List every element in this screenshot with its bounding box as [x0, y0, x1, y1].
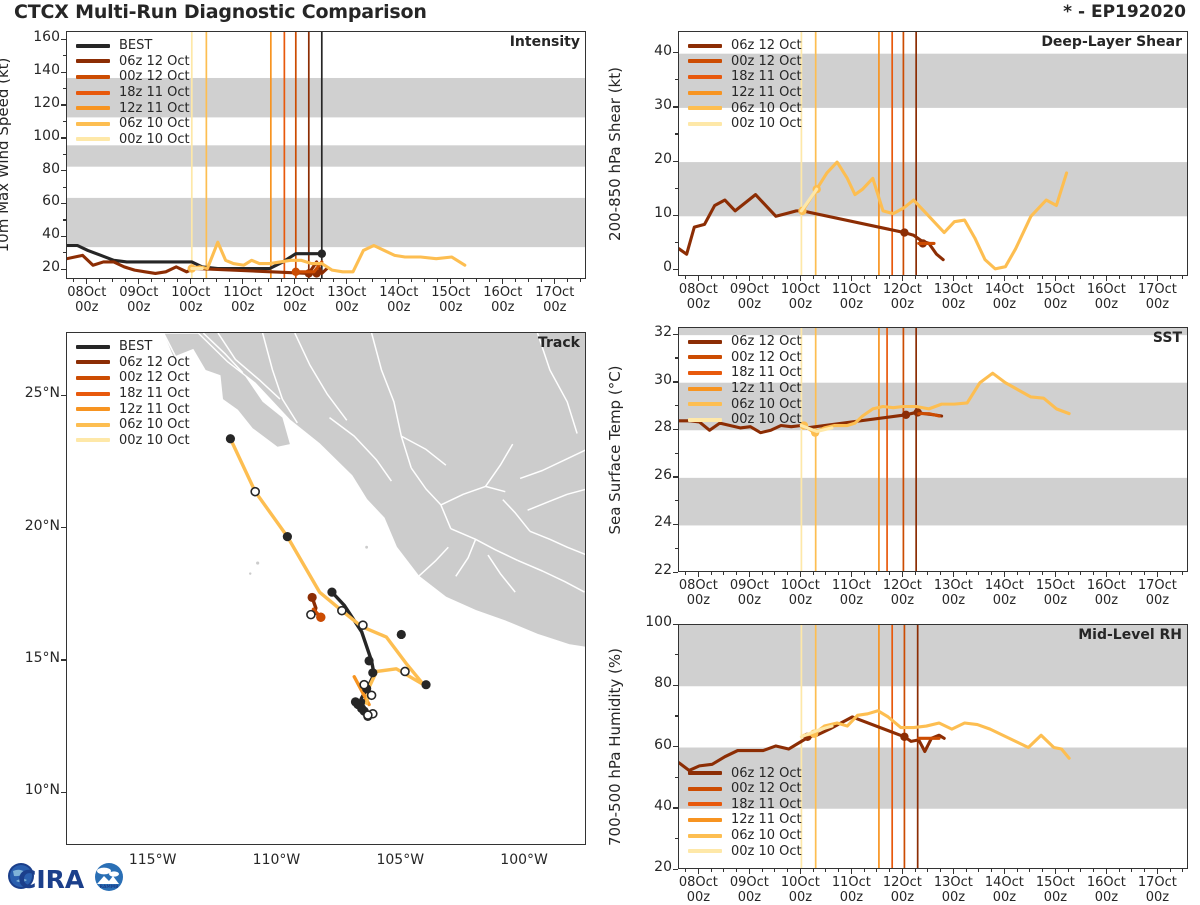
x-minor-tick — [876, 276, 877, 279]
x-minor-tick — [813, 572, 814, 575]
x-minor-tick — [838, 572, 839, 575]
legend-swatch-icon — [76, 122, 110, 126]
x-minor-tick — [711, 869, 712, 872]
x-minor-tick — [502, 279, 503, 282]
legend-label: 06z 12 Oct — [731, 38, 802, 53]
x-minor-tick — [978, 276, 979, 279]
legend-intensity: BEST06z 12 Oct00z 12 Oct18z 11 Oct12z 11… — [76, 38, 190, 147]
x-minor-tick — [723, 276, 724, 279]
y-minor-tick — [675, 453, 678, 454]
x-minor-tick — [1093, 276, 1094, 279]
y-tick-label: 120 — [18, 95, 60, 111]
legend-label: 00z 12 Oct — [119, 69, 190, 84]
legend-label: 00z 10 Oct — [731, 116, 802, 131]
x-minor-tick — [685, 276, 686, 279]
legend-item[interactable]: 06z 12 Oct — [76, 54, 190, 70]
x-minor-tick — [864, 276, 865, 279]
y-tick-label: 80 — [630, 675, 672, 691]
x-minor-tick — [385, 279, 386, 282]
y-minor-tick — [675, 715, 678, 716]
y-tick-label: 24 — [630, 514, 672, 530]
x-minor-tick — [876, 869, 877, 872]
y-tick-mark — [673, 685, 678, 686]
legend-item[interactable]: 18z 11 Oct — [688, 69, 802, 85]
legend-label: 00z 12 Oct — [731, 350, 802, 365]
x-minor-tick — [787, 869, 788, 872]
x-minor-tick — [1068, 572, 1069, 575]
x-minor-tick — [749, 572, 750, 575]
x-minor-tick — [838, 869, 839, 872]
x-minor-tick — [1029, 276, 1030, 279]
x-minor-tick — [953, 572, 954, 575]
rammb-icon: RAMMB — [95, 863, 123, 891]
y-tick-label: 40 — [18, 226, 60, 242]
x-minor-tick — [1042, 276, 1043, 279]
x-minor-tick — [1157, 276, 1158, 279]
legend-swatch-icon — [688, 418, 722, 422]
y-axis-label-sst: Sea Surface Temp (°C) — [606, 365, 624, 534]
x-minor-tick — [813, 276, 814, 279]
x-minor-tick — [437, 279, 438, 282]
x-minor-tick — [915, 276, 916, 279]
x-minor-tick — [1055, 276, 1056, 279]
legend-label: 06z 12 Oct — [119, 355, 190, 370]
lat-tick-mark — [61, 792, 66, 793]
legend-item[interactable]: 00z 12 Oct — [76, 69, 190, 85]
x-minor-tick — [940, 869, 941, 872]
y-tick-label: 22 — [630, 562, 672, 578]
legend-label: 00z 12 Oct — [731, 781, 802, 796]
y-minor-tick — [675, 500, 678, 501]
x-minor-tick — [927, 572, 928, 575]
legend-swatch-icon — [688, 771, 722, 775]
x-minor-tick — [294, 279, 295, 282]
legend-item[interactable]: 06z 10 Oct — [76, 116, 190, 132]
x-minor-tick — [320, 279, 321, 282]
x-minor-tick — [112, 279, 113, 282]
x-minor-tick — [902, 276, 903, 279]
x-minor-tick — [216, 279, 217, 282]
x-minor-tick — [927, 869, 928, 872]
shaded-band — [679, 162, 1188, 216]
x-minor-tick — [736, 276, 737, 279]
x-minor-tick — [372, 279, 373, 282]
legend-label: 12z 11 Oct — [119, 402, 190, 417]
track-point-filled — [316, 613, 325, 622]
x-minor-tick — [177, 279, 178, 282]
x-minor-tick — [966, 869, 967, 872]
x-minor-tick — [203, 279, 204, 282]
track-point-open — [307, 611, 315, 619]
legend-label: 12z 11 Oct — [731, 85, 802, 100]
cira-rammb-logo: CIRA RAMMB — [6, 855, 130, 897]
legend-item[interactable]: 06z 12 Oct — [688, 38, 802, 54]
y-tick-mark — [673, 334, 678, 335]
legend-item[interactable]: 00z 10 Oct — [688, 843, 802, 859]
y-tick-mark — [61, 203, 66, 204]
legend-label: 12z 11 Oct — [119, 101, 190, 116]
lat-tick-mark — [61, 395, 66, 396]
x-minor-tick — [825, 572, 826, 575]
y-minor-tick — [675, 405, 678, 406]
x-minor-tick — [528, 279, 529, 282]
legend-item[interactable]: 18z 11 Oct — [76, 85, 190, 101]
shaded-band — [679, 478, 1188, 526]
x-minor-tick — [787, 572, 788, 575]
y-tick-label: 60 — [18, 193, 60, 209]
legend-label: BEST — [119, 339, 152, 354]
legend-swatch-icon — [76, 376, 110, 380]
legend-label: 18z 11 Oct — [731, 69, 802, 84]
x-minor-tick — [1131, 572, 1132, 575]
legend-swatch-icon — [688, 59, 722, 63]
x-minor-tick — [268, 279, 269, 282]
x-minor-tick — [1068, 869, 1069, 872]
y-axis-label-shear: 200-850 hPa Shear (kt) — [606, 67, 624, 241]
legend-item[interactable]: 12z 11 Oct — [76, 100, 190, 116]
legend-item[interactable]: 06z 12 Oct — [76, 355, 190, 371]
legend-item[interactable]: BEST — [76, 339, 190, 355]
legend-label: 06z 12 Oct — [119, 54, 190, 69]
legend-item[interactable]: 00z 12 Oct — [688, 54, 802, 70]
page-header: CTCX Multi-Run Diagnostic Comparison * -… — [0, 0, 1200, 26]
x-minor-tick — [1017, 869, 1018, 872]
legend-item[interactable]: 18z 11 Oct — [688, 797, 802, 813]
y-tick-label: 28 — [630, 419, 672, 435]
y-tick-mark — [673, 572, 678, 573]
lat-tick-label: 20°N — [4, 518, 60, 534]
legend-swatch-icon — [76, 59, 110, 63]
x-minor-tick — [73, 279, 74, 282]
x-minor-tick — [698, 276, 699, 279]
lon-tick-label: 110°W — [236, 853, 316, 869]
x-minor-tick — [1182, 276, 1183, 279]
legend-label: 06z 10 Oct — [731, 101, 802, 116]
y-tick-mark — [673, 869, 678, 870]
x-minor-tick — [927, 276, 928, 279]
legend-label: 12z 11 Oct — [731, 381, 802, 396]
x-minor-tick — [825, 276, 826, 279]
x-minor-tick — [864, 869, 865, 872]
legend-sst: 06z 12 Oct00z 12 Oct18z 11 Oct12z 11 Oct… — [688, 334, 802, 428]
x-minor-tick — [580, 279, 581, 282]
x-minor-tick — [359, 279, 360, 282]
y-minor-tick — [675, 242, 678, 243]
x-minor-tick — [1093, 869, 1094, 872]
x-minor-tick — [1080, 276, 1081, 279]
x-minor-tick — [940, 572, 941, 575]
legend-swatch-icon — [688, 849, 722, 853]
track-point-filled — [327, 588, 336, 597]
x-minor-tick — [1029, 869, 1030, 872]
y-tick-label: 0 — [630, 259, 672, 275]
panel-title-track: Track — [538, 335, 580, 351]
storm-id-label: * - EP192020 — [1063, 2, 1186, 22]
x-minor-tick — [411, 279, 412, 282]
x-minor-tick — [825, 869, 826, 872]
y-minor-tick — [675, 188, 678, 189]
x-minor-tick — [1157, 869, 1158, 872]
legend-item[interactable]: BEST — [76, 38, 190, 54]
panel-title-rh: Mid-Level RH — [1078, 627, 1182, 643]
x-minor-tick — [864, 572, 865, 575]
legend-item[interactable]: 06z 10 Oct — [688, 396, 802, 412]
legend-label: 06z 10 Oct — [731, 828, 802, 843]
x-minor-tick — [1042, 869, 1043, 872]
y-tick-mark — [673, 381, 678, 382]
x-minor-tick — [1144, 869, 1145, 872]
legend-rh: 06z 12 Oct00z 12 Oct18z 11 Oct12z 11 Oct… — [688, 765, 802, 859]
legend-item[interactable]: 12z 11 Oct — [688, 381, 802, 397]
legend-label: 06z 10 Oct — [119, 116, 190, 131]
x-minor-tick — [1055, 572, 1056, 575]
y-tick-mark — [61, 170, 66, 171]
x-minor-tick — [749, 869, 750, 872]
legend-item[interactable]: 00z 10 Oct — [688, 412, 802, 428]
x-minor-tick — [554, 279, 555, 282]
legend-item[interactable]: 12z 11 Oct — [688, 812, 802, 828]
legend-swatch-icon — [688, 787, 722, 791]
x-minor-tick — [991, 869, 992, 872]
x-minor-tick — [800, 276, 801, 279]
x-minor-tick — [991, 276, 992, 279]
y-axis-label-intensity: 10m Max Wind Speed (kt) — [0, 58, 12, 253]
x-minor-tick — [1029, 572, 1030, 575]
x-minor-tick — [800, 572, 801, 575]
legend-swatch-icon — [76, 44, 110, 48]
x-minor-tick — [1182, 869, 1183, 872]
y-tick-label: 160 — [18, 29, 60, 45]
panel-title-shear: Deep-Layer Shear — [1041, 34, 1182, 50]
x-minor-tick — [1068, 276, 1069, 279]
x-minor-tick — [281, 279, 282, 282]
x-minor-tick — [138, 279, 139, 282]
track-point-filled — [308, 593, 317, 602]
y-tick-mark — [61, 236, 66, 237]
legend-item[interactable]: 18z 11 Oct — [76, 386, 190, 402]
track-point-open — [368, 691, 376, 699]
legend-item[interactable]: 12z 11 Oct — [76, 401, 190, 417]
x-minor-tick — [966, 572, 967, 575]
y-tick-label: 32 — [630, 324, 672, 340]
y-minor-tick — [675, 133, 678, 134]
y-tick-label: 40 — [630, 43, 672, 59]
y-tick-mark — [673, 161, 678, 162]
legend-swatch-icon — [688, 75, 722, 79]
legend-swatch-icon — [76, 106, 110, 110]
x-minor-tick — [698, 572, 699, 575]
y-minor-tick — [63, 187, 66, 188]
y-tick-mark — [673, 269, 678, 270]
x-minor-tick — [723, 572, 724, 575]
series-marker — [902, 411, 910, 419]
x-tick-label: 17Oct00z — [521, 286, 589, 315]
legend-item[interactable]: 00z 12 Oct — [688, 350, 802, 366]
x-minor-tick — [978, 572, 979, 575]
legend-label: 06z 12 Oct — [731, 334, 802, 349]
y-minor-tick — [675, 357, 678, 358]
y-minor-tick — [675, 548, 678, 549]
legend-swatch-icon — [76, 91, 110, 95]
x-minor-tick — [749, 276, 750, 279]
x-minor-tick — [1106, 869, 1107, 872]
legend-swatch-icon — [76, 345, 110, 349]
legend-item[interactable]: 00z 10 Oct — [688, 116, 802, 132]
x-tick-label: 17Oct00z — [1123, 283, 1191, 312]
island-marker — [365, 546, 368, 549]
legend-swatch-icon — [688, 355, 722, 359]
y-minor-tick — [675, 777, 678, 778]
legend-swatch-icon — [688, 834, 722, 838]
legend-swatch-icon — [688, 44, 722, 48]
x-minor-tick — [463, 279, 464, 282]
x-minor-tick — [800, 869, 801, 872]
y-tick-mark — [61, 269, 66, 270]
x-minor-tick — [762, 572, 763, 575]
y-tick-label: 80 — [18, 161, 60, 177]
x-minor-tick — [333, 279, 334, 282]
x-minor-tick — [1170, 869, 1171, 872]
x-minor-tick — [1182, 572, 1183, 575]
x-minor-tick — [346, 279, 347, 282]
legend-item[interactable]: 06z 10 Oct — [688, 100, 802, 116]
x-minor-tick — [774, 572, 775, 575]
x-minor-tick — [698, 869, 699, 872]
x-minor-tick — [902, 572, 903, 575]
x-minor-tick — [851, 869, 852, 872]
y-tick-mark — [673, 746, 678, 747]
x-minor-tick — [736, 572, 737, 575]
shaded-band — [67, 198, 586, 247]
y-tick-mark — [61, 104, 66, 105]
track-point-open — [359, 621, 367, 629]
y-tick-label: 60 — [630, 737, 672, 753]
track-point-filled — [397, 630, 406, 639]
x-minor-tick — [1004, 276, 1005, 279]
x-minor-tick — [450, 279, 451, 282]
x-minor-tick — [889, 869, 890, 872]
x-minor-tick — [940, 276, 941, 279]
y-tick-label: 26 — [630, 467, 672, 483]
svg-text:CIRA: CIRA — [18, 865, 85, 894]
legend-label: BEST — [119, 38, 152, 53]
lat-tick-mark — [61, 659, 66, 660]
lat-tick-label: 15°N — [4, 650, 60, 666]
x-minor-tick — [762, 869, 763, 872]
legend-label: 00z 12 Oct — [119, 370, 190, 385]
y-tick-label: 100 — [18, 128, 60, 144]
legend-swatch-icon — [76, 423, 110, 427]
y-tick-mark — [673, 807, 678, 808]
x-tick-label: 17Oct00z — [1123, 876, 1191, 905]
legend-swatch-icon — [76, 438, 110, 442]
track-point-open — [401, 667, 409, 675]
x-minor-tick — [1157, 572, 1158, 575]
legend-label: 00z 10 Oct — [731, 844, 802, 859]
x-minor-tick — [307, 279, 308, 282]
x-minor-tick — [1144, 276, 1145, 279]
y-tick-mark — [61, 72, 66, 73]
legend-swatch-icon — [688, 122, 722, 126]
legend-item[interactable]: 00z 12 Oct — [76, 370, 190, 386]
legend-swatch-icon — [76, 75, 110, 79]
x-minor-tick — [1119, 276, 1120, 279]
track-point-filled — [283, 532, 292, 541]
page-title: CTCX Multi-Run Diagnostic Comparison — [14, 1, 427, 23]
x-minor-tick — [1093, 572, 1094, 575]
y-minor-tick — [63, 121, 66, 122]
track-point-filled — [421, 680, 430, 689]
y-tick-mark — [61, 137, 66, 138]
legend-item[interactable]: 00z 10 Oct — [76, 433, 190, 449]
legend-label: 06z 10 Oct — [119, 417, 190, 432]
x-minor-tick — [851, 572, 852, 575]
legend-shear: 06z 12 Oct00z 12 Oct18z 11 Oct12z 11 Oct… — [688, 38, 802, 132]
x-minor-tick — [991, 572, 992, 575]
x-minor-tick — [774, 869, 775, 872]
y-tick-mark — [673, 476, 678, 477]
x-minor-tick — [1144, 572, 1145, 575]
legend-item[interactable]: 00z 10 Oct — [76, 132, 190, 148]
x-minor-tick — [476, 279, 477, 282]
y-minor-tick — [63, 88, 66, 89]
legend-label: 18z 11 Oct — [119, 85, 190, 100]
legend-swatch-icon — [76, 360, 110, 364]
x-minor-tick — [838, 276, 839, 279]
x-minor-tick — [1042, 572, 1043, 575]
x-minor-tick — [953, 869, 954, 872]
legend-label: 18z 11 Oct — [119, 386, 190, 401]
y-tick-label: 140 — [18, 62, 60, 78]
x-minor-tick — [1055, 869, 1056, 872]
y-tick-label: 10 — [630, 205, 672, 221]
legend-swatch-icon — [688, 371, 722, 375]
legend-item[interactable]: 06z 10 Oct — [76, 417, 190, 433]
legend-item[interactable]: 12z 11 Oct — [688, 85, 802, 101]
legend-item[interactable]: 06z 12 Oct — [688, 765, 802, 781]
x-minor-tick — [1017, 572, 1018, 575]
legend-label: 18z 11 Oct — [731, 365, 802, 380]
y-tick-mark — [673, 624, 678, 625]
y-minor-tick — [63, 219, 66, 220]
x-tick-label: 17Oct00z — [1123, 579, 1191, 608]
lat-tick-label: 25°N — [4, 385, 60, 401]
track-point-open — [251, 488, 259, 496]
legend-item[interactable]: 00z 12 Oct — [688, 781, 802, 797]
panel-title-sst: SST — [1153, 330, 1182, 346]
x-minor-tick — [1170, 276, 1171, 279]
x-minor-tick — [787, 276, 788, 279]
svg-text:RAMMB: RAMMB — [100, 884, 120, 890]
track-point-open — [338, 607, 346, 615]
x-minor-tick — [86, 279, 87, 282]
x-minor-tick — [1080, 572, 1081, 575]
x-minor-tick — [774, 276, 775, 279]
series-marker — [900, 733, 908, 741]
legend-item[interactable]: 18z 11 Oct — [688, 365, 802, 381]
x-minor-tick — [889, 276, 890, 279]
x-minor-tick — [685, 572, 686, 575]
y-tick-label: 30 — [630, 97, 672, 113]
lat-tick-mark — [61, 527, 66, 528]
legend-item[interactable]: 06z 10 Oct — [688, 828, 802, 844]
series-marker — [900, 228, 908, 236]
legend-item[interactable]: 06z 12 Oct — [688, 334, 802, 350]
y-tick-label: 20 — [630, 859, 672, 875]
x-minor-tick — [125, 279, 126, 282]
legend-swatch-icon — [76, 137, 110, 141]
island-marker — [256, 561, 259, 564]
